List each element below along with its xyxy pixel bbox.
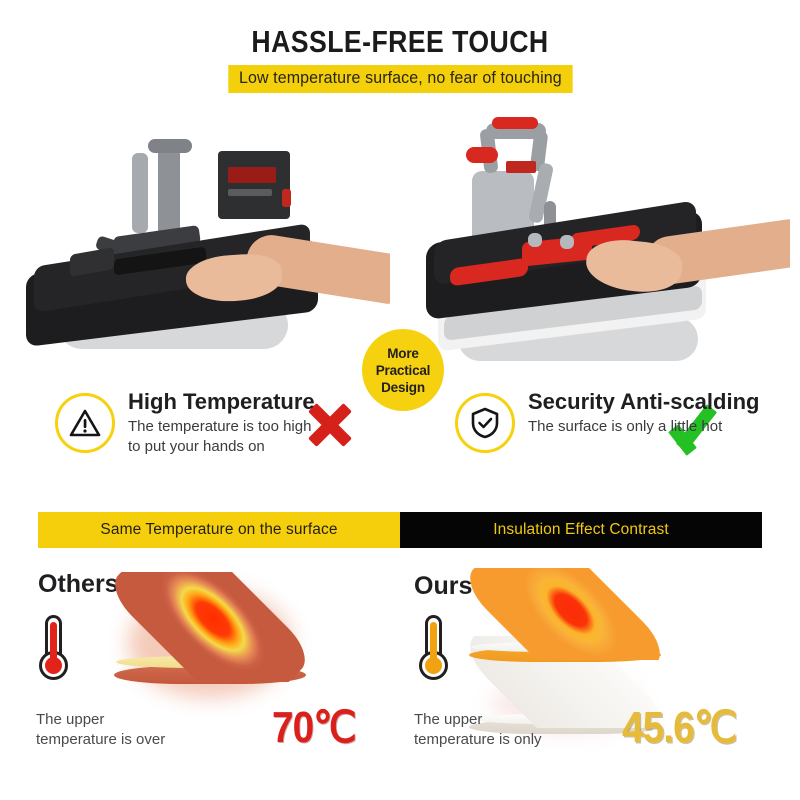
- banner-insulation-effect: Insulation Effect Contrast: [400, 512, 762, 548]
- panel-others: Others The upper temperature is over 70℃: [0, 560, 400, 800]
- caption-line-2: temperature is only: [414, 731, 542, 748]
- caption-line-1: The upper: [414, 711, 482, 728]
- photo-comparison: More Practical Design: [0, 105, 800, 385]
- page-title: HASSLE-FREE TOUCH: [56, 24, 744, 60]
- caption-line-1: The upper: [36, 711, 104, 728]
- photo-high-temperature: [10, 105, 390, 385]
- feature-heading: Security Anti-scalding: [528, 387, 759, 417]
- feature-line-1: The surface is only a little hot: [528, 417, 759, 437]
- badge-line-3: Design: [376, 379, 431, 396]
- panel-heading: Others: [38, 570, 119, 599]
- photo-anti-scalding: [410, 105, 790, 385]
- feature-line-2: to put your hands on: [128, 437, 315, 457]
- temperature-value-ours: 45.6℃: [622, 702, 736, 753]
- feature-line-1: The temperature is too high: [128, 417, 315, 437]
- thermometer-red-icon: [36, 615, 72, 687]
- more-practical-design-badge: More Practical Design: [362, 329, 444, 411]
- feature-text-block: High Temperature The temperature is too …: [128, 385, 315, 457]
- thermometer-orange-icon: [416, 615, 452, 687]
- badge-line-2: Practical: [376, 362, 431, 379]
- contrast-banner: Same Temperature on the surface Insulati…: [38, 512, 762, 548]
- feature-anti-scalding: Security Anti-scalding The surface is on…: [455, 385, 759, 453]
- badge-line-1: More: [376, 345, 431, 362]
- shield-check-icon: [455, 393, 515, 453]
- banner-same-temperature: Same Temperature on the surface: [38, 512, 400, 548]
- page-subtitle: Low temperature surface, no fear of touc…: [228, 65, 572, 93]
- temperature-value-others: 70℃: [272, 702, 356, 753]
- subtitle-container: Low temperature surface, no fear of touc…: [0, 65, 800, 93]
- temperature-comparison: Others The upper temperature is over 70℃: [0, 560, 800, 800]
- panel-heading: Ours: [414, 572, 472, 601]
- feature-high-temperature: High Temperature The temperature is too …: [55, 385, 315, 457]
- warning-triangle-icon: [55, 393, 115, 453]
- infographic-root: HASSLE-FREE TOUCH Low temperature surfac…: [0, 0, 800, 800]
- feature-text-block: Security Anti-scalding The surface is on…: [528, 385, 759, 453]
- panel-ours: Ours: [400, 560, 800, 800]
- panel-caption: The upper temperature is only: [414, 710, 604, 750]
- feature-heading: High Temperature: [128, 387, 315, 417]
- caption-line-2: temperature is over: [36, 731, 165, 748]
- panel-caption: The upper temperature is over: [36, 710, 216, 750]
